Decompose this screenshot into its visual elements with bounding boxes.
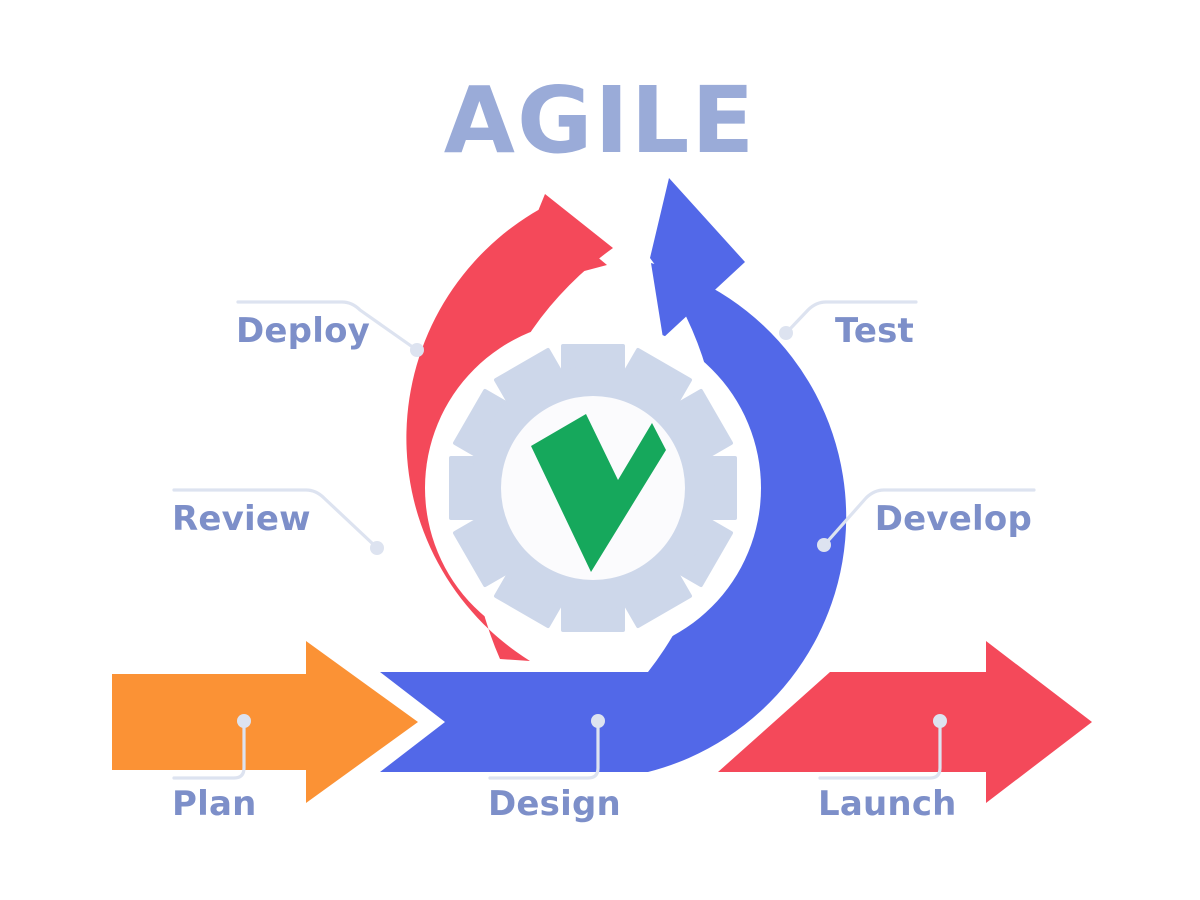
stage-label-launch: Launch bbox=[818, 784, 957, 824]
leader-dot-plan bbox=[237, 714, 251, 728]
gear-icon bbox=[425, 320, 761, 656]
stage-label-develop: Develop bbox=[875, 499, 1032, 539]
infographic-canvas: AGILE bbox=[0, 0, 1200, 900]
stage-label-review: Review bbox=[172, 499, 311, 539]
leader-dot-launch bbox=[933, 714, 947, 728]
leader-dot-develop bbox=[817, 538, 831, 552]
plan-arrow-shape bbox=[112, 641, 418, 803]
stage-arrow-plan[interactable] bbox=[112, 641, 418, 803]
stage-label-deploy: Deploy bbox=[236, 311, 370, 351]
leader-dot-design bbox=[591, 714, 605, 728]
page-title: AGILE bbox=[444, 67, 756, 174]
leader-dot-review bbox=[370, 541, 384, 555]
stage-label-design: Design bbox=[488, 784, 621, 824]
agile-cycle-diagram: AGILE bbox=[0, 0, 1200, 900]
stage-label-test: Test bbox=[835, 311, 914, 351]
stage-label-plan: Plan bbox=[172, 784, 257, 824]
leader-dot-deploy bbox=[410, 343, 424, 357]
leader-dot-test bbox=[779, 326, 793, 340]
